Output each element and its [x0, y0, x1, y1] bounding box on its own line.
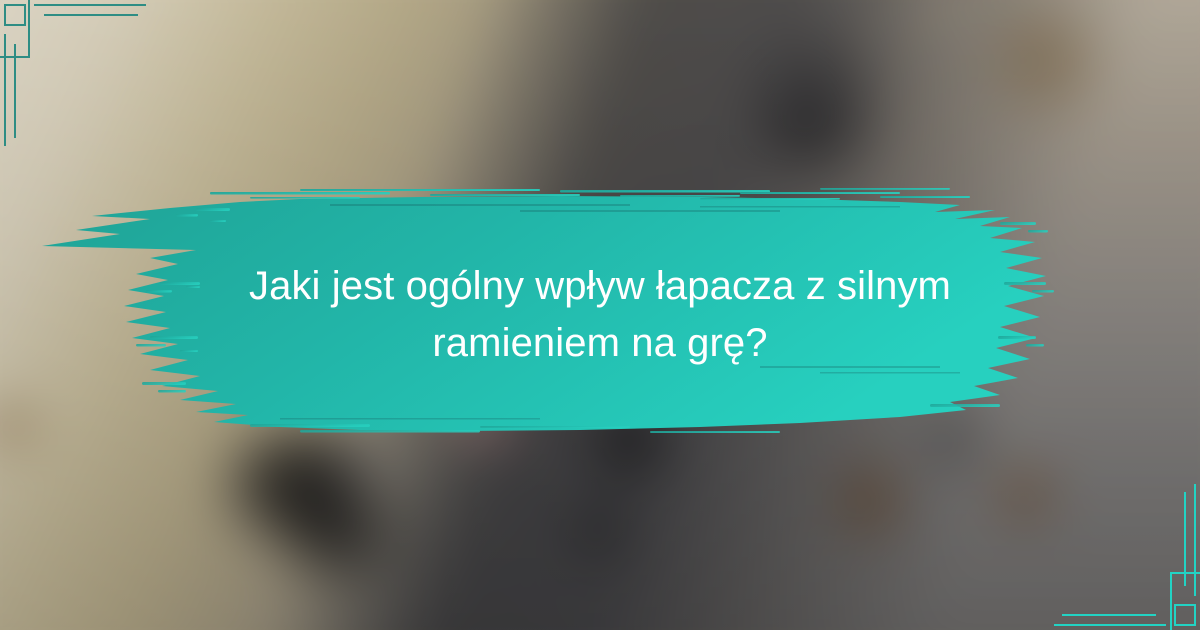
corner-frame-bottom-right [1040, 470, 1200, 630]
page-title-line-2: ramieniem na grę? [432, 316, 767, 371]
corner-bracket-vertical [28, 0, 30, 58]
corner-rule-vertical-inner [14, 44, 16, 138]
corner-rule-horizontal-inner [44, 14, 138, 16]
corner-bracket-vertical [1170, 572, 1172, 630]
corner-rule-horizontal-outer [1054, 624, 1166, 626]
corner-rule-horizontal-inner [1062, 614, 1156, 616]
corner-rule-horizontal-outer [34, 4, 146, 6]
corner-square-icon [1174, 604, 1196, 626]
corner-rule-vertical-outer [4, 34, 6, 146]
headline-banner: Jaki jest ogólny wpływ łapacza z silnym … [0, 186, 1200, 444]
page-title-line-1: Jaki jest ogólny wpływ łapacza z silnym [249, 259, 951, 314]
share-card-canvas: Jaki jest ogólny wpływ łapacza z silnym … [0, 0, 1200, 630]
corner-rule-vertical-inner [1184, 492, 1186, 586]
page-title: Jaki jest ogólny wpływ łapacza z silnym … [200, 186, 1000, 444]
corner-square-icon [4, 4, 26, 26]
corner-frame-top-left [0, 0, 160, 160]
corner-rule-vertical-outer [1194, 484, 1196, 596]
